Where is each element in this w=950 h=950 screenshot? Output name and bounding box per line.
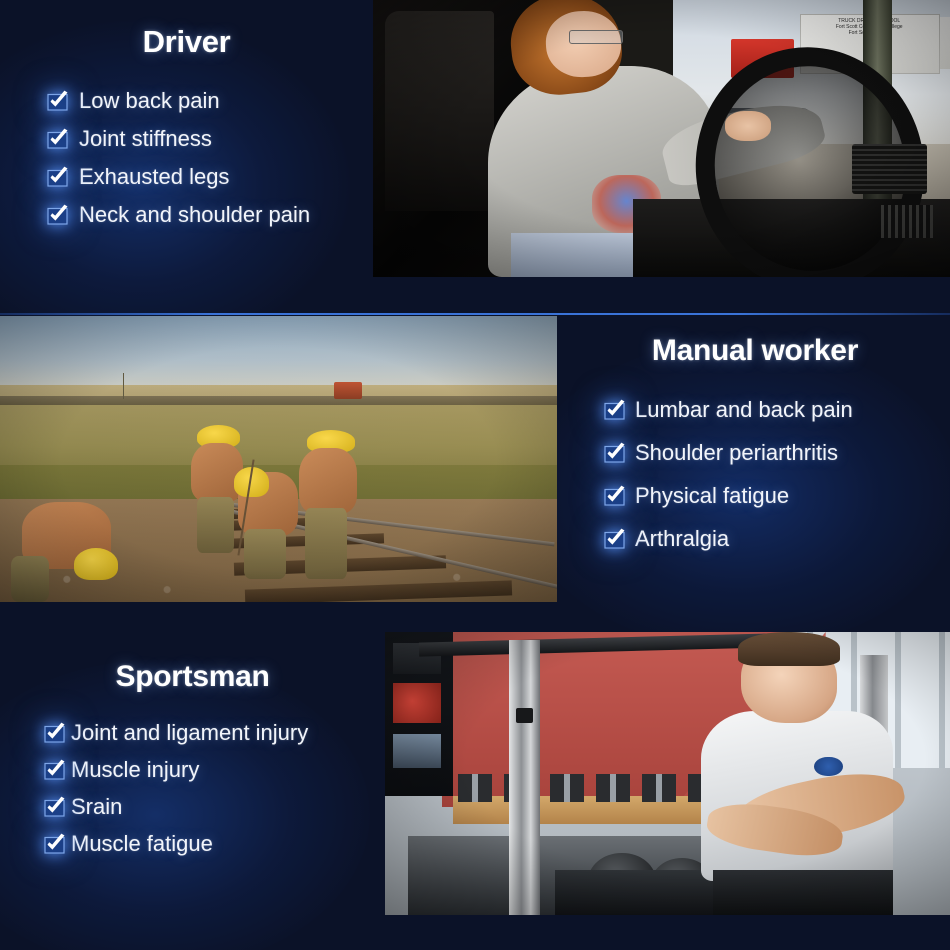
list-item-label: Neck and shoulder pain [79,196,310,234]
list-item-label: Shoulder periarthritis [635,431,838,474]
photo-vignette [0,316,557,602]
checkbox-checked-icon[interactable] [44,834,65,854]
photo-truck-driver: TRUCK DRIVING SCHOOL Fort Scott Communit… [373,0,950,277]
list-item: Muscle fatigue [44,825,385,862]
checkbox-checked-icon[interactable] [604,400,625,420]
list-item: Neck and shoulder pain [47,196,373,234]
list-item: Shoulder periarthritis [604,431,950,474]
list-item-label: Low back pain [79,82,220,120]
list-item: Srain [44,788,385,825]
symptom-list-driver: Low back pain Joint stiffness [0,82,373,234]
list-item: Joint stiffness [47,120,373,158]
photo-railway-workers [0,316,557,602]
list-item-label: Exhausted legs [79,158,229,196]
list-item: Exhausted legs [47,158,373,196]
checkbox-checked-icon[interactable] [47,205,68,225]
checkbox-checked-icon[interactable] [604,486,625,506]
list-item-label: Lumbar and back pain [635,388,853,431]
list-item-label: Physical fatigue [635,474,789,517]
list-item-label: Arthralgia [635,517,729,560]
checkbox-checked-icon[interactable] [604,529,625,549]
checkbox-checked-icon[interactable] [44,760,65,780]
symptom-list-manual-worker: Lumbar and back pain Shoulder periarthri… [560,388,950,560]
photo-vignette [373,0,950,277]
section-divider [0,313,950,315]
list-item: Physical fatigue [604,474,950,517]
list-item-label: Muscle injury [71,751,199,788]
section-driver: Driver Low back pain Joint [0,24,373,234]
checkbox-checked-icon[interactable] [44,797,65,817]
list-item: Arthralgia [604,517,950,560]
photo-gym-athlete [385,632,950,915]
section-sportsman: Sportsman Joint and ligament injury [0,660,385,862]
checkbox-checked-icon[interactable] [44,723,65,743]
photo-vignette [385,632,950,915]
checkbox-checked-icon[interactable] [47,129,68,149]
list-item: Lumbar and back pain [604,388,950,431]
list-item-label: Srain [71,788,122,825]
list-item-label: Muscle fatigue [71,825,213,862]
checkbox-checked-icon[interactable] [604,443,625,463]
section-title-sportsman: Sportsman [0,660,385,694]
list-item-label: Joint stiffness [79,120,212,158]
list-item: Muscle injury [44,751,385,788]
symptom-list-sportsman: Joint and ligament injury Muscle injury [0,714,385,862]
list-item-label: Joint and ligament injury [71,714,308,751]
section-manual-worker: Manual worker Lumbar and back pain [560,334,950,560]
section-title-manual-worker: Manual worker [560,334,950,368]
section-title-driver: Driver [0,24,373,60]
checkbox-checked-icon[interactable] [47,167,68,187]
checkbox-checked-icon[interactable] [47,91,68,111]
list-item: Joint and ligament injury [44,714,385,751]
infographic-poster: TRUCK DRIVING SCHOOL Fort Scott Communit… [0,0,950,950]
list-item: Low back pain [47,82,373,120]
